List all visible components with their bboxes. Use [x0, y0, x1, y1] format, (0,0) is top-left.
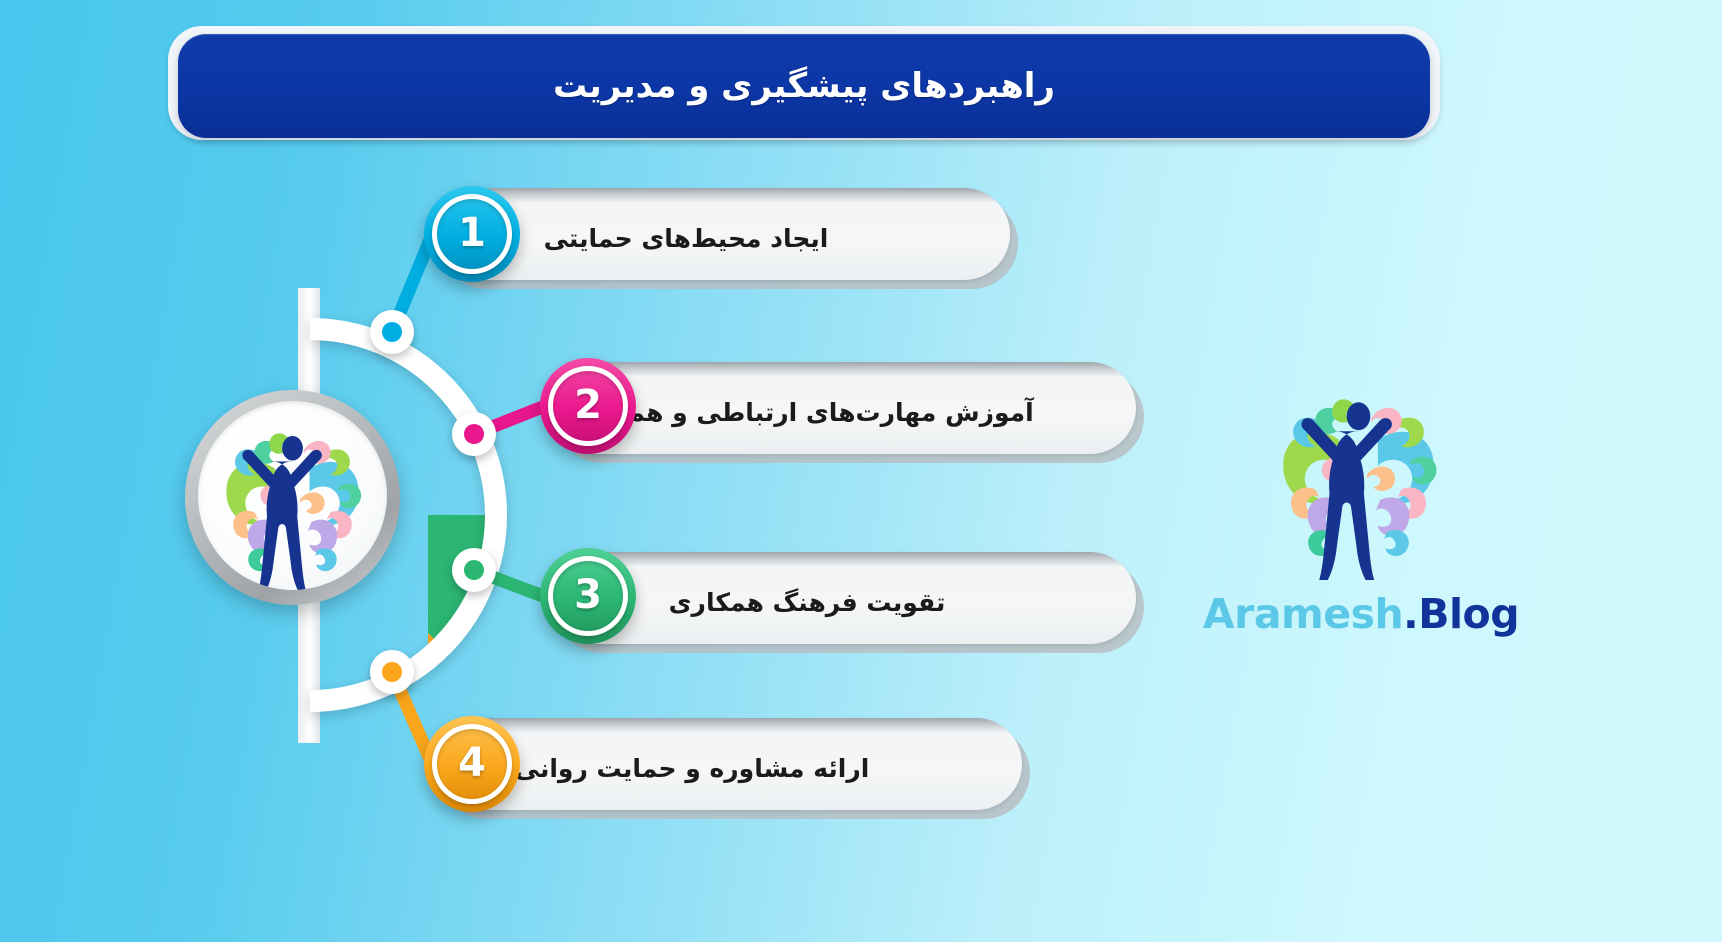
connector-node-2: [452, 412, 496, 456]
brand-name-primary: Aramesh: [1203, 590, 1403, 638]
center-logo-inner: [198, 401, 387, 590]
step-badge-3[interactable]: 3: [540, 548, 636, 644]
connector-node-3: [452, 548, 496, 592]
infographic-canvas: راهبردهای پیشگیری و مدیریت: [0, 0, 1722, 942]
brand-logo-icon: [1251, 360, 1466, 580]
step-card-3[interactable]: تقویت فرهنگ همکاری: [548, 552, 1136, 644]
step-number-2: 2: [574, 385, 602, 428]
center-logo-disc: [185, 390, 400, 605]
connector-node-4: [370, 650, 414, 694]
card-body: آموزش مهارت‌های ارتباطی و همدلی: [548, 362, 1136, 454]
step-label-3: تقویت فرهنگ همکاری: [548, 580, 1136, 617]
brand-name-secondary: Blog: [1418, 590, 1519, 638]
connector-node-1: [370, 310, 414, 354]
step-card-2[interactable]: آموزش مهارت‌های ارتباطی و همدلی: [548, 362, 1136, 454]
step-number-1: 1: [458, 213, 486, 256]
brand-wordmark: Aramesh.Blog: [1196, 590, 1526, 638]
card-body: ارائه مشاوره و حمایت روانی: [432, 718, 1022, 810]
brand-separator: .: [1403, 590, 1418, 638]
step-number-4: 4: [458, 743, 486, 786]
title-banner: راهبردهای پیشگیری و مدیریت: [168, 26, 1440, 140]
step-label-4: ارائه مشاوره و حمایت روانی: [432, 746, 1022, 783]
person-foliage-icon: [198, 401, 387, 590]
step-badge-2[interactable]: 2: [540, 358, 636, 454]
step-number-3: 3: [574, 575, 602, 618]
brand-block: Aramesh.Blog: [1196, 360, 1526, 670]
page-title: راهبردهای پیشگیری و مدیریت: [553, 66, 1055, 106]
step-label-2: آموزش مهارت‌های ارتباطی و همدلی: [548, 390, 1136, 427]
step-badge-4[interactable]: 4: [424, 716, 520, 812]
title-bar: راهبردهای پیشگیری و مدیریت: [178, 34, 1430, 138]
step-card-4[interactable]: ارائه مشاوره و حمایت روانی: [432, 718, 1022, 810]
step-badge-1[interactable]: 1: [424, 186, 520, 282]
card-body: تقویت فرهنگ همکاری: [548, 552, 1136, 644]
